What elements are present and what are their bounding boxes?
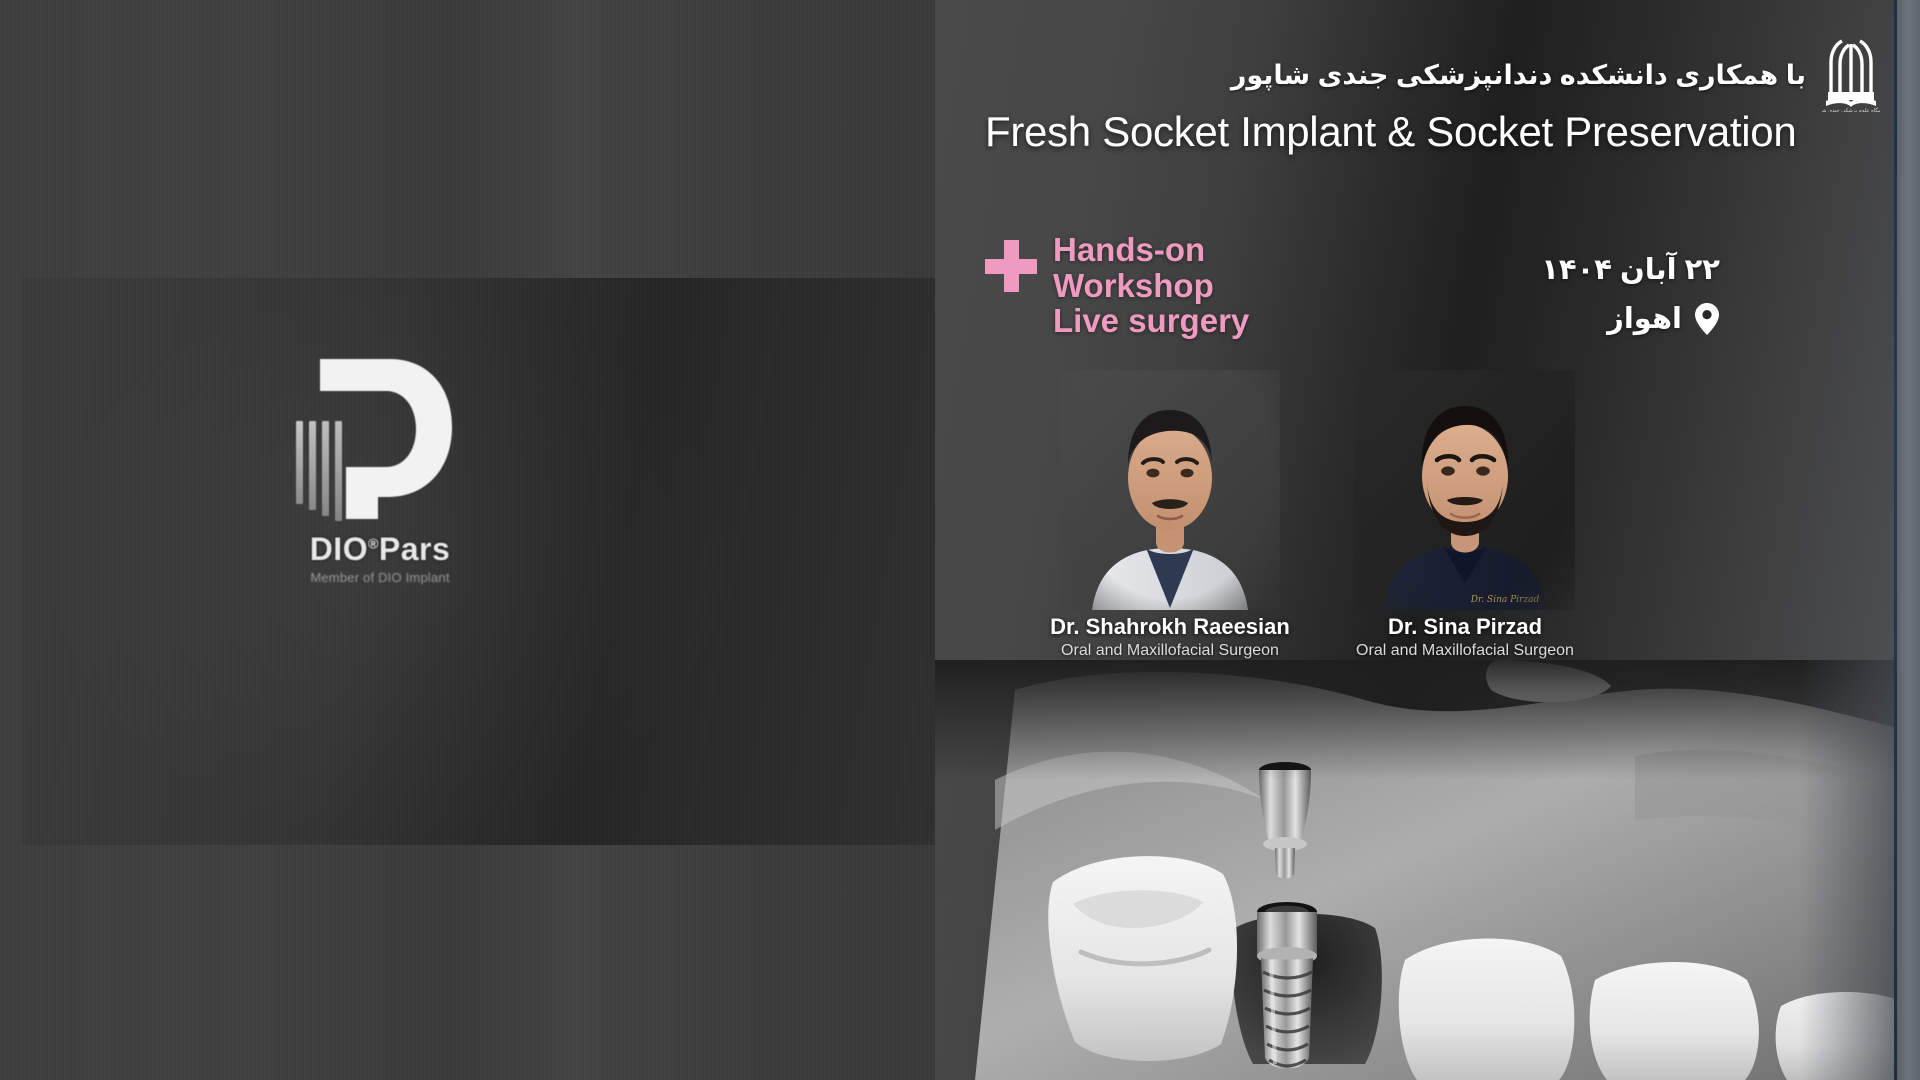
poster-title: Fresh Socket Implant & Socket Preservati… [985,108,1885,156]
dio-pars-tagline: Member of DIO Implant [280,570,480,585]
workshop-badge: Hands-on Workshop Live surgery [985,232,1249,339]
speaker-name-1: Dr. Shahrokh Raeesian [1020,614,1320,640]
workshop-line-2: Workshop [1053,268,1249,304]
poster-canvas: DIO®Pars Member of DIO Implant [0,0,1920,1080]
event-location-row: اهواز [1541,301,1720,336]
plus-icon [985,240,1037,292]
event-meta: ۲۲ آبان ۱۴۰۴ اهواز [1541,252,1720,336]
panel-edge-strip [1897,0,1920,1080]
speaker-role-2: Oral and Maxillofacial Surgeon [1315,642,1615,660]
workshop-line-1: Hands-on [1053,232,1249,268]
speaker-card-1: Dr. Shahrokh Raeesian Oral and Maxillofa… [1020,370,1320,660]
dental-implant-illustration [935,660,1920,1080]
collaboration-header: دانشگاه علوم پزشکی جندی شاپور با همکاری … [1231,38,1880,112]
left-brand-panel: DIO®Pars Member of DIO Implant [0,0,935,1080]
dio-pars-logo: DIO®Pars Member of DIO Implant [280,355,480,585]
jundishapur-university-logo-icon: دانشگاه علوم پزشکی جندی شاپور [1822,38,1880,112]
workshop-labels: Hands-on Workshop Live surgery [1053,232,1249,339]
workshop-line-3: Live surgery [1053,303,1249,339]
speaker-card-2: Dr. Sina Pirzad Dr. Sina Pirzad Oral and… [1315,370,1615,660]
right-content-panel: دانشگاه علوم پزشکی جندی شاپور با همکاری … [935,0,1920,1080]
map-pin-icon [1694,302,1720,336]
dio-pars-logomark [290,355,455,525]
event-location: اهواز [1607,301,1682,336]
speaker-photo-sina-pirzad: Dr. Sina Pirzad [1355,370,1575,610]
speakers-row: Dr. Shahrokh Raeesian Oral and Maxillofa… [935,370,1920,700]
svg-text:Dr. Sina Pirzad: Dr. Sina Pirzad [1470,595,1540,605]
speaker-name-2: Dr. Sina Pirzad [1315,614,1615,640]
dio-pars-wordmark: DIO®Pars [280,531,480,568]
event-date: ۲۲ آبان ۱۴۰۴ [1541,252,1720,287]
speaker-role-1: Oral and Maxillofacial Surgeon [1020,642,1320,660]
speaker-photo-shahrokh-raeesian [1060,370,1280,610]
collaboration-text: با همکاری دانشکده دندانپزشکی جندی شاپور [1231,60,1806,91]
dio-d-letterform-icon [316,355,454,523]
